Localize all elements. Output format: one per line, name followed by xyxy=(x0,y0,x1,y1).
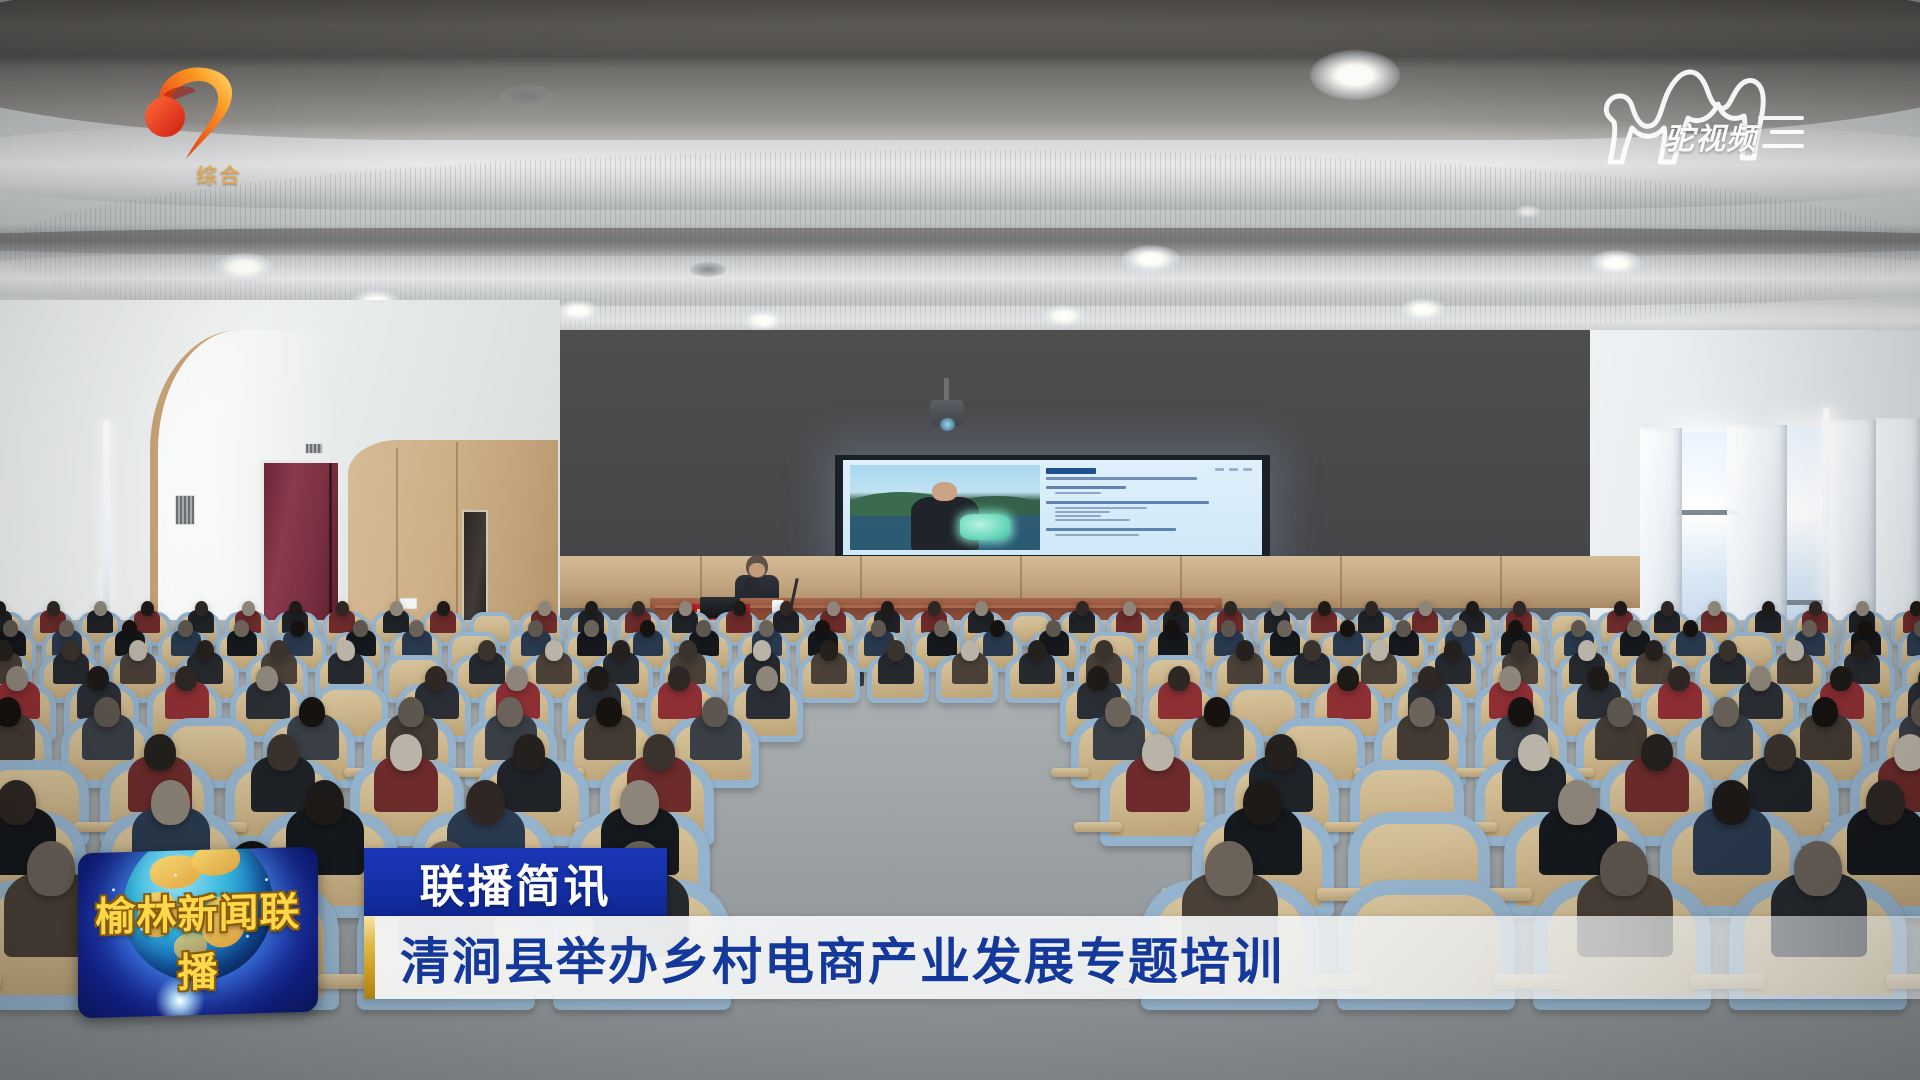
wall-speaker-grille-1 xyxy=(175,495,195,525)
attendee-head xyxy=(1794,841,1842,897)
attendee-head xyxy=(1614,601,1627,616)
attendee-head xyxy=(409,620,424,637)
attendee-head xyxy=(141,601,154,616)
headline-accent-bar xyxy=(364,916,375,999)
slide-body-line-2 xyxy=(1046,501,1209,504)
presentation-slide xyxy=(843,460,1262,555)
kicker-banner: 联播简讯 xyxy=(364,848,667,916)
attendee-head xyxy=(290,620,305,637)
kicker-label: 联播简讯 xyxy=(419,850,611,915)
attendee-head xyxy=(234,620,249,637)
attendee-head xyxy=(640,620,655,637)
projector-lens-icon xyxy=(940,418,955,431)
attendee-head xyxy=(620,780,659,825)
attendee-head xyxy=(1600,841,1648,897)
attendee-head xyxy=(1712,780,1751,825)
attendee-head xyxy=(1046,620,1061,637)
attendee-head xyxy=(1224,601,1237,616)
camel-watermark-label: 驼视频 xyxy=(1664,114,1757,158)
attendee-head xyxy=(679,601,692,616)
attendee-head xyxy=(1028,640,1046,661)
attendee-head xyxy=(1641,734,1673,771)
attendee-head xyxy=(643,734,675,771)
seat-armrest xyxy=(1074,822,1122,832)
attendee-head xyxy=(679,640,697,661)
attendee-head xyxy=(87,666,109,692)
slide-mark-2 xyxy=(1229,468,1238,471)
attendee-head xyxy=(1853,640,1871,661)
attendee-head xyxy=(820,640,838,661)
attendee-head xyxy=(437,601,450,616)
attendee-head xyxy=(3,620,18,637)
attendee-head xyxy=(1142,734,1174,771)
attendee-head xyxy=(1866,780,1905,825)
attendee-head xyxy=(756,666,778,692)
ceiling-light-8 xyxy=(1042,305,1086,327)
attendee-head xyxy=(753,640,771,661)
attendee-head xyxy=(27,841,75,897)
attendee-head xyxy=(1856,601,1869,616)
attendee-head xyxy=(696,620,711,637)
attendee-head xyxy=(497,697,523,727)
attendee-head xyxy=(390,734,422,771)
ceiling-light-4 xyxy=(215,253,273,281)
attendee-head xyxy=(305,780,344,825)
ceiling-light-1 xyxy=(1310,50,1400,100)
slide-detail-line-6 xyxy=(1055,534,1138,536)
attendee-head xyxy=(1511,640,1529,661)
attendee-head xyxy=(1713,697,1739,727)
ceiling-light-6 xyxy=(556,300,600,322)
ceiling-light-9 xyxy=(1400,298,1446,321)
attendee-head xyxy=(668,666,690,692)
attendee-head xyxy=(1668,666,1690,692)
ceiling-light-2 xyxy=(1122,245,1180,273)
camel-watermark: 驼视频 xyxy=(1592,58,1802,168)
attendee-head xyxy=(887,640,905,661)
slide-title-line xyxy=(1046,468,1096,474)
slide-detail-line-1 xyxy=(1055,492,1101,494)
attendee-head xyxy=(1409,697,1435,727)
attendee-head xyxy=(1571,620,1586,637)
attendee-head xyxy=(538,601,551,616)
attendee-head xyxy=(1910,601,1920,616)
attendee-head xyxy=(270,640,288,661)
attendee-head xyxy=(1645,640,1663,661)
attendee-head xyxy=(256,666,278,692)
headline-banner: 清涧县举办乡村电商产业发展专题培训 xyxy=(364,916,1920,999)
attendee-head xyxy=(242,601,255,616)
attendee-head xyxy=(478,640,496,661)
globe-landmass-2 xyxy=(192,847,240,877)
attendee-head xyxy=(1786,640,1804,661)
headline-text: 清涧县举办乡村电商产业发展专题培训 xyxy=(400,922,1284,994)
attendee-head xyxy=(1749,666,1771,692)
attendee-head xyxy=(1708,601,1721,616)
attendee-head xyxy=(122,620,137,637)
phoenix-flame-logo-icon xyxy=(130,55,245,163)
attendee-head xyxy=(1337,666,1359,692)
attendee-head xyxy=(1518,734,1550,771)
attendee-head xyxy=(545,640,563,661)
curtain-3 xyxy=(1828,420,1876,642)
dais-seam-5 xyxy=(1340,556,1342,608)
curtain-2 xyxy=(1727,425,1787,643)
attendee-head xyxy=(94,697,120,727)
attendee-head xyxy=(196,640,214,661)
attendee-head xyxy=(506,666,528,692)
attendee-head xyxy=(1087,666,1109,692)
attendee-head xyxy=(1764,734,1796,771)
attendee-head xyxy=(1243,780,1282,825)
attendee-head xyxy=(1466,601,1479,616)
attendee-head xyxy=(1365,601,1378,616)
attendee-head xyxy=(1370,640,1388,661)
attendee-head xyxy=(1271,601,1284,616)
attendee-head xyxy=(1683,620,1698,637)
slide-product-highlight xyxy=(960,514,1009,540)
attendee-head xyxy=(195,601,208,616)
attendee-head xyxy=(425,666,447,692)
attendee-head xyxy=(612,640,630,661)
attendee-head xyxy=(871,620,886,637)
attendee-head xyxy=(513,734,545,771)
attendee-head xyxy=(1318,601,1331,616)
attendee-head xyxy=(1802,620,1817,637)
slide-detail-line-5 xyxy=(1055,519,1130,521)
attendee-head xyxy=(1095,640,1113,661)
speaker-face xyxy=(749,563,765,577)
attendee-head xyxy=(815,620,830,637)
attendee-head xyxy=(1607,697,1633,727)
attendee-head xyxy=(1076,601,1089,616)
attendee-head xyxy=(1894,734,1920,771)
slide-text-panel xyxy=(1046,465,1255,550)
attendee-head xyxy=(632,601,645,616)
attendee-head xyxy=(1558,780,1597,825)
attendee-head xyxy=(289,601,302,616)
attendee-head xyxy=(928,601,941,616)
attendee-head xyxy=(1165,620,1180,637)
attendee-head xyxy=(390,601,403,616)
attendee-head xyxy=(990,620,1005,637)
attendee-head xyxy=(827,601,840,616)
attendee-head xyxy=(337,640,355,661)
attendee-head xyxy=(1396,620,1411,637)
attendee-head xyxy=(1265,734,1297,771)
attendee-head xyxy=(1499,666,1521,692)
attendee-head xyxy=(129,640,147,661)
ceiling-light-7 xyxy=(742,310,784,331)
attendee-head xyxy=(975,601,988,616)
camel-speed-line-2 xyxy=(1770,130,1804,134)
attendee-head xyxy=(1340,620,1355,637)
channel-sub-label: 综合 xyxy=(196,160,242,190)
attendee-head xyxy=(934,620,949,637)
attendee-head xyxy=(47,601,60,616)
attendee-head xyxy=(759,620,774,637)
attendee-head xyxy=(398,697,424,727)
attendee-head xyxy=(1508,697,1534,727)
attendee-head xyxy=(62,640,80,661)
wall-light-strip-2 xyxy=(1823,408,1830,638)
slide-corner-marks xyxy=(1215,468,1252,471)
attendee-head xyxy=(1204,697,1230,727)
wall-switch-plate[interactable] xyxy=(400,598,417,609)
attendee-head xyxy=(1170,601,1183,616)
attendee-head xyxy=(780,601,793,616)
slide-detail-line-2 xyxy=(1055,507,1147,509)
projection-screen xyxy=(835,455,1270,560)
slide-body-line-1 xyxy=(1046,486,1125,489)
attendee-head xyxy=(1762,601,1775,616)
program-title: 榆林新闻联播 xyxy=(78,879,318,1002)
attendee-head xyxy=(1452,620,1467,637)
attendee-head xyxy=(1812,697,1838,727)
attendee-head xyxy=(587,666,609,692)
attendee-head xyxy=(353,620,368,637)
attendee-head xyxy=(1277,620,1292,637)
attendee-head xyxy=(1508,620,1523,637)
attendee-head xyxy=(1168,666,1190,692)
dais-seam-6 xyxy=(1500,556,1502,608)
wall-speaker-grille-2 xyxy=(305,443,323,454)
attendee-head xyxy=(1809,601,1822,616)
seat-armrest xyxy=(1051,768,1090,776)
attendee-head xyxy=(1236,640,1254,661)
slide-subtitle-line xyxy=(1046,477,1196,480)
attendee-head xyxy=(1587,666,1609,692)
attendee-head xyxy=(144,734,176,771)
ceiling-light-3 xyxy=(1590,250,1642,276)
attendee-head xyxy=(584,620,599,637)
ceiling-fixture-1 xyxy=(500,85,554,107)
attendee-head xyxy=(1105,697,1131,727)
attendee-head xyxy=(466,780,505,825)
attendee-head xyxy=(1719,640,1737,661)
attendee-head xyxy=(528,620,543,637)
attendee-head xyxy=(1123,601,1136,616)
attendee-head xyxy=(299,697,325,727)
attendee-head xyxy=(1914,620,1920,637)
attendee-head xyxy=(881,601,894,616)
camel-speed-line-1 xyxy=(1758,116,1804,120)
attendee-head xyxy=(0,780,36,825)
slide-detail-line-4 xyxy=(1055,515,1101,517)
attendee-head xyxy=(1661,601,1674,616)
attendee-head xyxy=(733,601,746,616)
channel-bug: 综合 xyxy=(130,55,290,185)
attendee-head xyxy=(1513,601,1526,616)
attendee-head xyxy=(1858,620,1873,637)
attendee-head xyxy=(178,620,193,637)
broadcast-frame: 综合 驼视频 榆林新闻联播 联播简讯 清涧县举办乡村电商产业发展 xyxy=(0,0,1920,1080)
program-logo-badge: 榆林新闻联播 xyxy=(78,847,318,1019)
slide-video-thumbnail xyxy=(850,465,1040,550)
attendee-head xyxy=(6,666,28,692)
attendee-head xyxy=(94,601,107,616)
attendee-head xyxy=(1221,620,1236,637)
slide-mark-3 xyxy=(1243,468,1252,471)
attendee-head xyxy=(1627,620,1642,637)
attendee-head xyxy=(1444,640,1462,661)
slide-mark-1 xyxy=(1215,468,1224,471)
slide-presenter-head xyxy=(932,482,957,501)
attendee-head xyxy=(151,780,190,825)
attendee-head xyxy=(59,620,74,637)
attendee-head xyxy=(596,697,622,727)
attendee-head xyxy=(1418,666,1440,692)
attendee-head xyxy=(702,697,728,727)
attendee-head xyxy=(175,666,197,692)
attendee-head xyxy=(961,640,979,661)
attendee-head xyxy=(1578,640,1596,661)
camel-speed-line-3 xyxy=(1762,144,1804,148)
ceiling-fixture-2 xyxy=(690,262,726,277)
attendee-head xyxy=(585,601,598,616)
attendee-head xyxy=(267,734,299,771)
attendee-head xyxy=(1303,640,1321,661)
ceiling-light-16 xyxy=(1515,205,1541,218)
attendee-head xyxy=(1830,666,1852,692)
slide-detail-line-3 xyxy=(1055,511,1109,513)
slide-body-line-3 xyxy=(1046,528,1175,531)
attendee-head xyxy=(1419,601,1432,616)
attendee-head xyxy=(336,601,349,616)
attendee-head xyxy=(1205,841,1253,897)
